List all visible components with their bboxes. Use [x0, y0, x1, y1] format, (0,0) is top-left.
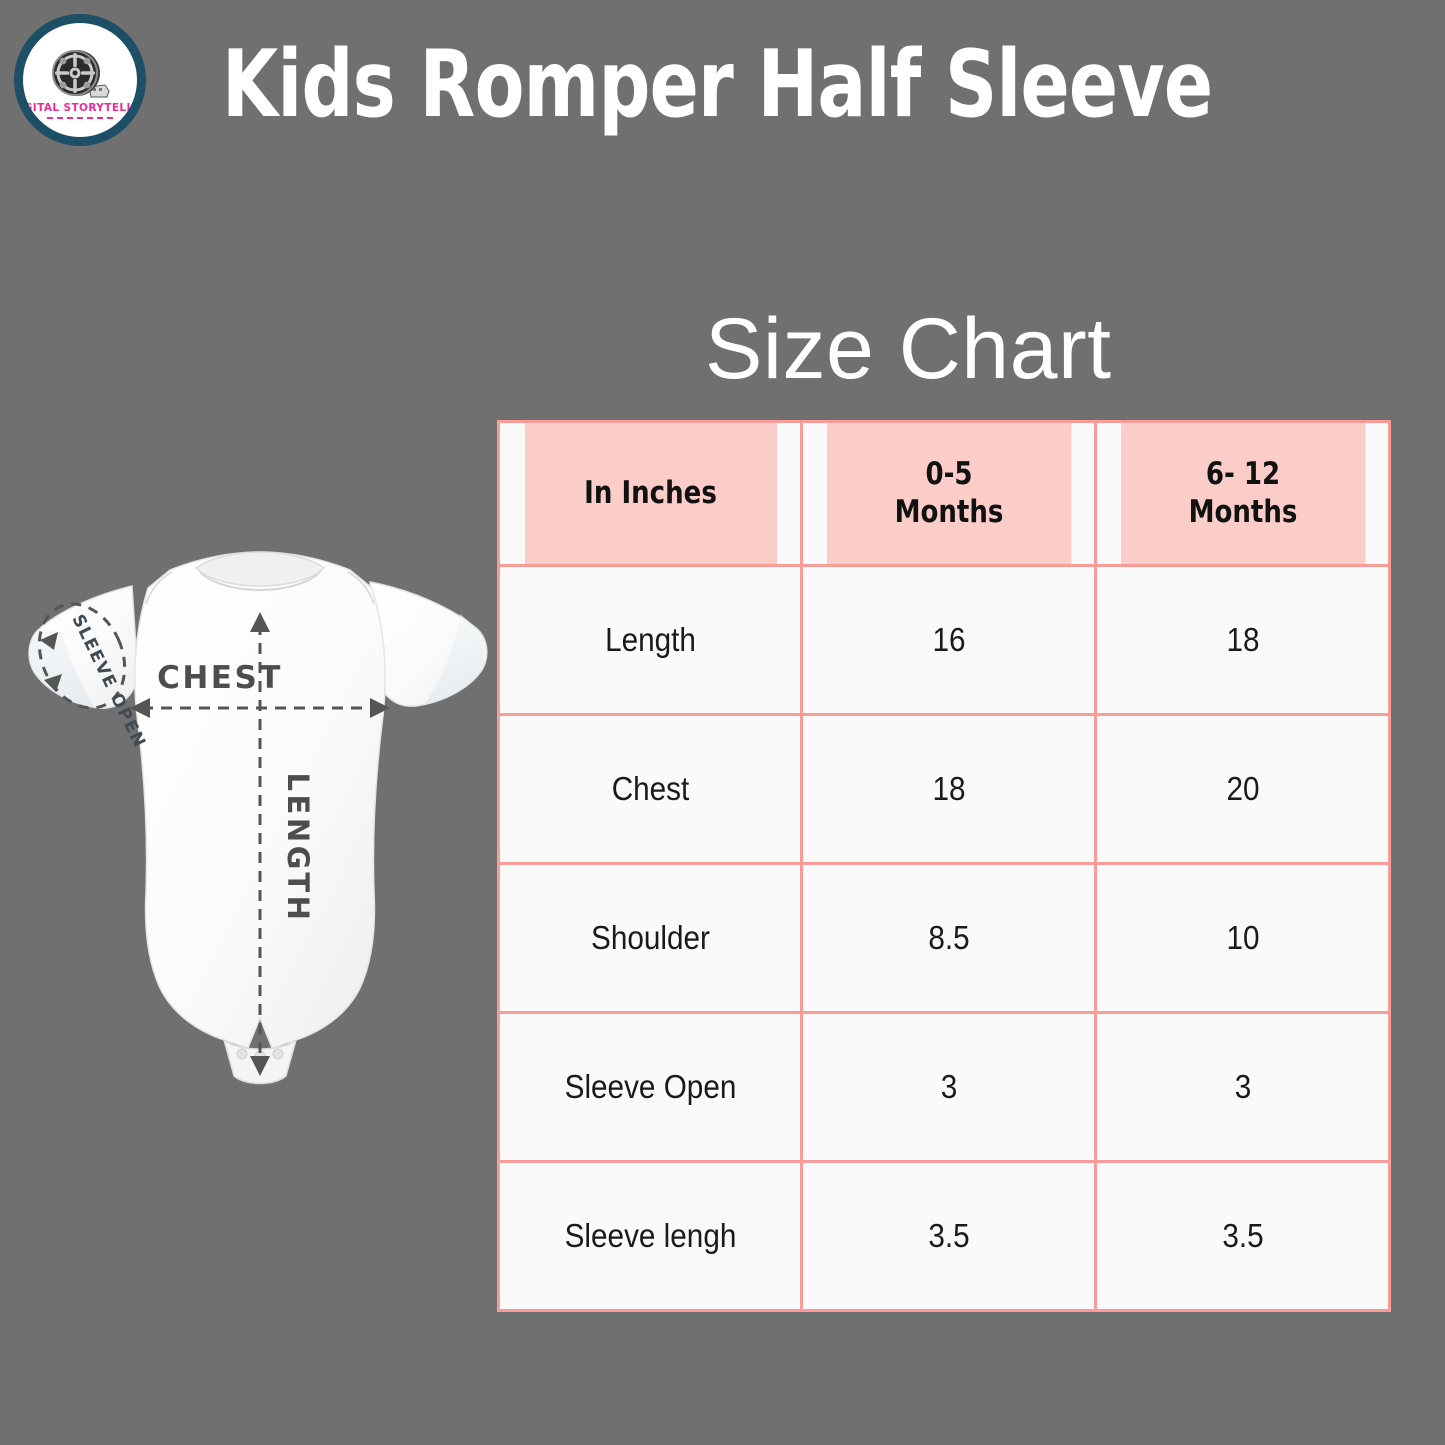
page-title: Kids Romper Half Sleeve [222, 36, 1212, 134]
row-label-sleeve-open: Sleeve Open [514, 1013, 787, 1162]
column-header-6-12-months: 6- 12 Months [1119, 422, 1366, 566]
cell-length-0-5: 16 [816, 566, 1081, 715]
chest-label: CHEST [157, 660, 283, 696]
table-row: Shoulder 8.5 10 [499, 864, 1390, 1013]
cell-sleeve-length-6-12: 3.5 [1110, 1162, 1375, 1311]
film-reel-icon [49, 47, 111, 101]
cell-sleeve-length-0-5: 3.5 [816, 1162, 1081, 1311]
column-header-0-5-months: 0-5 Months [825, 422, 1072, 566]
logo-dash-rule [47, 117, 113, 119]
size-chart-table: In Inches 0-5 Months 6- 12 Months Length… [497, 420, 1391, 1312]
table-row: Sleeve Open 3 3 [499, 1013, 1390, 1162]
row-label-length: Length [514, 566, 787, 715]
brand-logo: DIGITAL STORYTELLER [14, 14, 146, 146]
length-label: LENGTH [281, 773, 315, 924]
cell-sleeve-open-0-5: 3 [816, 1013, 1081, 1162]
size-chart-heading: Size Chart [705, 300, 1112, 399]
baby-romper-illustration: CHEST LENGTH SLEEVE OPEN [20, 548, 500, 1168]
cell-shoulder-0-5: 8.5 [816, 864, 1081, 1013]
table-row: Length 16 18 [499, 566, 1390, 715]
row-label-chest: Chest [514, 715, 787, 864]
cell-shoulder-6-12: 10 [1110, 864, 1375, 1013]
table-header-row: In Inches 0-5 Months 6- 12 Months [499, 422, 1390, 566]
row-label-sleeve-length: Sleeve lengh [514, 1162, 787, 1311]
cell-chest-0-5: 18 [816, 715, 1081, 864]
column-header-measurement: In Inches [523, 422, 778, 566]
row-label-shoulder: Shoulder [514, 864, 787, 1013]
table-row: Sleeve lengh 3.5 3.5 [499, 1162, 1390, 1311]
cell-sleeve-open-6-12: 3 [1110, 1013, 1375, 1162]
cell-length-6-12: 18 [1110, 566, 1375, 715]
logo-brand-text: DIGITAL STORYTELLER [14, 103, 146, 114]
cell-chest-6-12: 20 [1110, 715, 1375, 864]
table-row: Chest 18 20 [499, 715, 1390, 864]
